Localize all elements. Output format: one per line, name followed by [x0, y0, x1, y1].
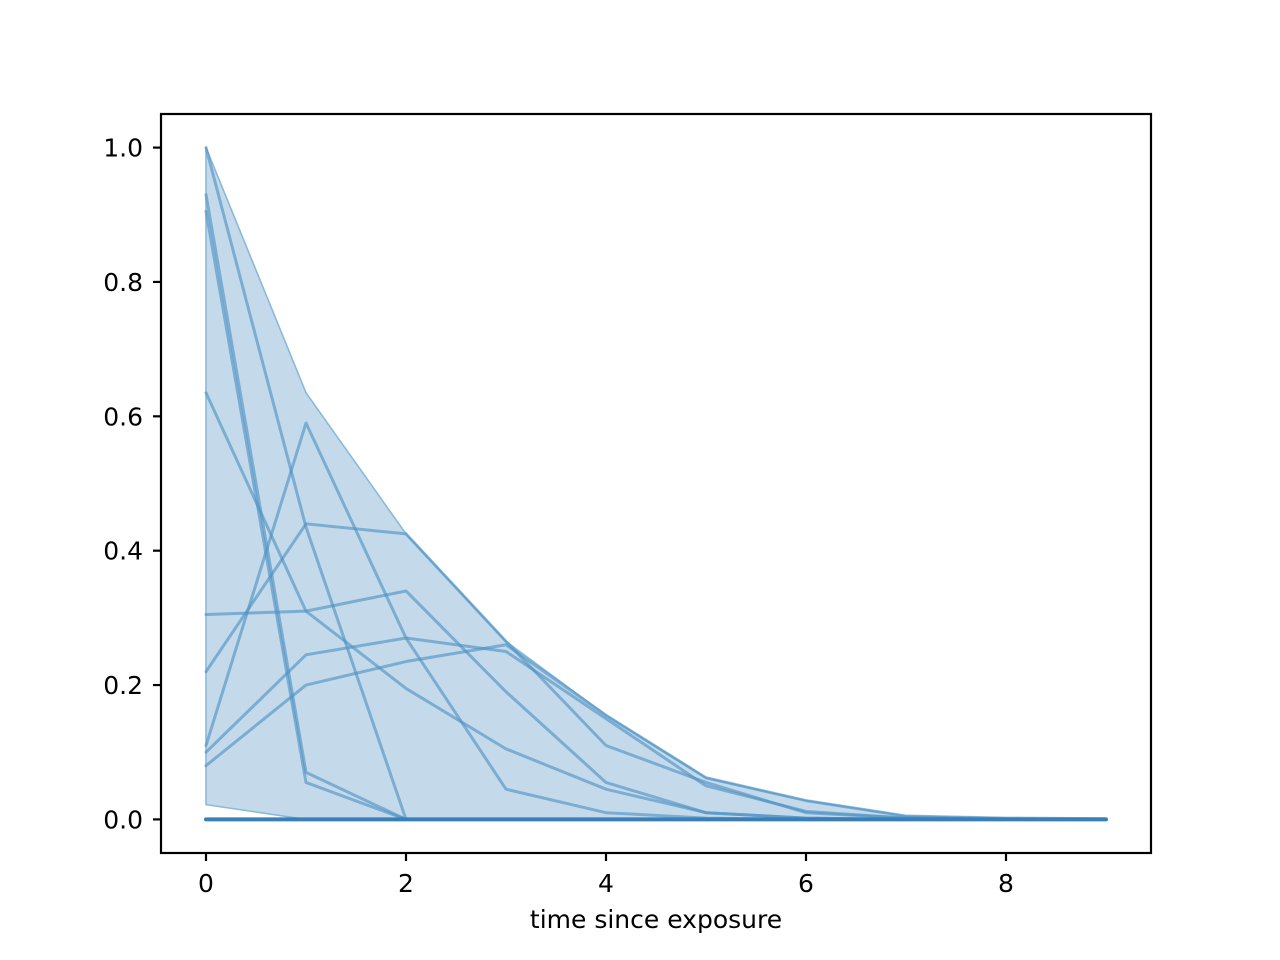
y-tick-label: 0.6	[103, 402, 143, 431]
y-tick-label: 0.2	[103, 671, 143, 700]
chart-plot: 02468 0.00.20.40.60.81.0 time since expo…	[0, 0, 1280, 960]
y-tick-label: 1.0	[103, 134, 143, 163]
x-axis-label: time since exposure	[530, 905, 782, 934]
y-tick-label: 0.8	[103, 268, 143, 297]
y-tick-label: 0.0	[103, 805, 143, 834]
y-tick-label: 0.4	[103, 537, 143, 566]
x-tick-label: 6	[798, 869, 814, 898]
figure-canvas: 02468 0.00.20.40.60.81.0 time since expo…	[0, 0, 1280, 960]
x-tick-label: 8	[998, 869, 1014, 898]
x-tick-label: 0	[198, 869, 214, 898]
x-tick-label: 4	[598, 869, 614, 898]
x-tick-label: 2	[398, 869, 414, 898]
